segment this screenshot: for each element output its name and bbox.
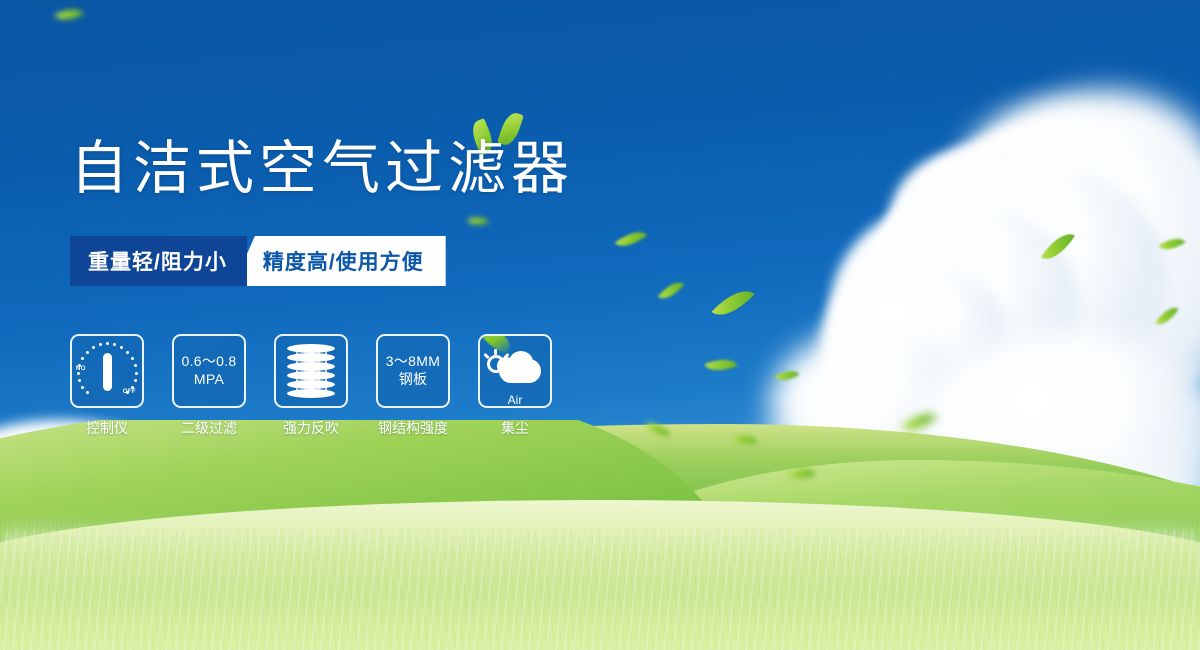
feature-item-back-blow[interactable]: 强力反吹 [274, 334, 348, 438]
page-title: 自洁式空气过滤器 [70, 140, 574, 198]
subtitle-bar: 重量轻/阻力小 精度高/使用方便 [70, 236, 446, 286]
feature-label: 二级过滤 [181, 418, 237, 438]
gauge-dial-icon: NO OFF [76, 342, 138, 400]
gauge-label-off: OFF [123, 389, 136, 395]
grass-field [0, 420, 1200, 650]
feature-label: 强力反吹 [283, 418, 339, 438]
steel-line-2: 钢板 [386, 371, 440, 389]
feature-icon-box: NO OFF [70, 334, 144, 408]
feature-label: 钢结构强度 [378, 418, 448, 438]
air-label: Air [487, 393, 543, 407]
cloud-sun-air-icon: Air [487, 349, 543, 393]
product-hero-banner: 自洁式空气过滤器 重量轻/阻力小 精度高/使用方便 [0, 0, 1200, 650]
feature-item-steel-strength[interactable]: 3～8MM 钢板 钢结构强度 [376, 334, 450, 438]
field-sheen [0, 530, 1200, 650]
feature-item-dust-collection[interactable]: Air 集尘 [478, 334, 552, 438]
subtitle-right-chip: 精度高/使用方便 [233, 236, 446, 286]
gauge-needle [103, 353, 112, 391]
subtitle-left-chip: 重量轻/阻力小 [70, 236, 247, 286]
pressure-line-2: MPA [181, 371, 236, 389]
feature-icon-row: NO OFF 控制仪 0.6～0.8 MPA 二级过滤 [70, 334, 552, 438]
feature-icon-box: Air [478, 334, 552, 408]
pressure-line-1: 0.6～0.8 [181, 353, 236, 369]
cloud-body [499, 359, 541, 383]
feature-item-control-gauge[interactable]: NO OFF 控制仪 [70, 334, 144, 438]
gauge-label-no: NO [76, 366, 86, 372]
feature-label: 集尘 [501, 418, 529, 438]
steel-plate-text-icon: 3～8MM 钢板 [386, 353, 440, 389]
foreground-field [0, 500, 1200, 650]
feature-icon-box [274, 334, 348, 408]
feature-icon-box: 3～8MM 钢板 [376, 334, 450, 408]
steel-line-1: 3～8MM [386, 353, 440, 369]
feature-icon-box: 0.6～0.8 MPA [172, 334, 246, 408]
filter-cartridge-stack-icon [287, 344, 335, 398]
feature-label: 控制仪 [86, 418, 128, 438]
pressure-text-icon: 0.6～0.8 MPA [181, 353, 236, 389]
feature-item-two-stage-filter[interactable]: 0.6～0.8 MPA 二级过滤 [172, 334, 246, 438]
